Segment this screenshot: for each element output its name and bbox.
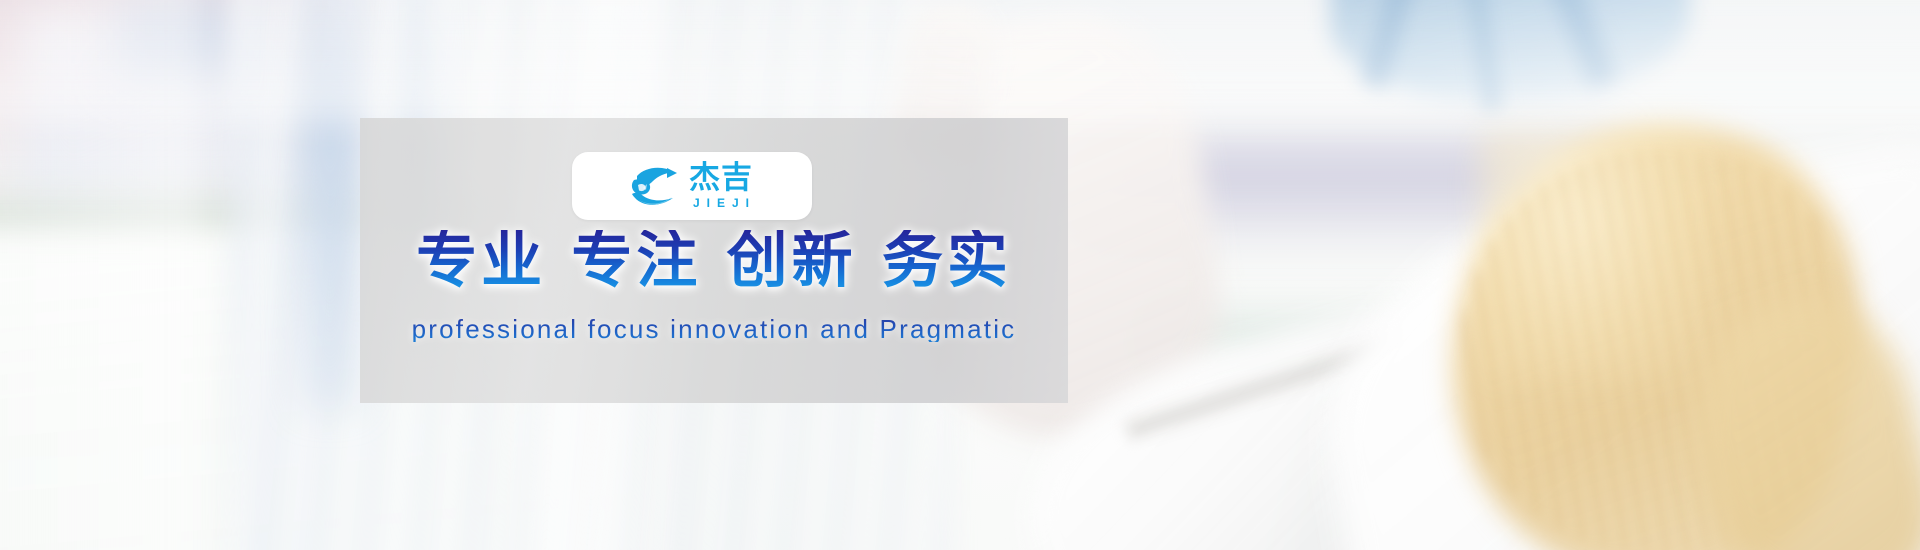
hero-banner: 杰吉 JIEJI 专业 专注 创新 务实 professional focus … (0, 0, 1920, 550)
slogan-headline: 专业 专注 创新 务实 (360, 230, 1068, 291)
jieji-swoosh-logo-icon (628, 163, 678, 209)
logo-company-name-en: JIEJI (693, 197, 756, 209)
logo-company-name-cn: 杰吉 (689, 163, 753, 194)
slogan-subtitle: professional focus innovation and Pragma… (360, 316, 1068, 342)
background-bottom-glow (0, 0, 1920, 120)
logo-pill[interactable]: 杰吉 JIEJI (572, 152, 812, 220)
slogan-panel: 杰吉 JIEJI 专业 专注 创新 务实 professional focus … (360, 118, 1068, 403)
logo-wordmark: 杰吉 JIEJI (686, 163, 756, 209)
